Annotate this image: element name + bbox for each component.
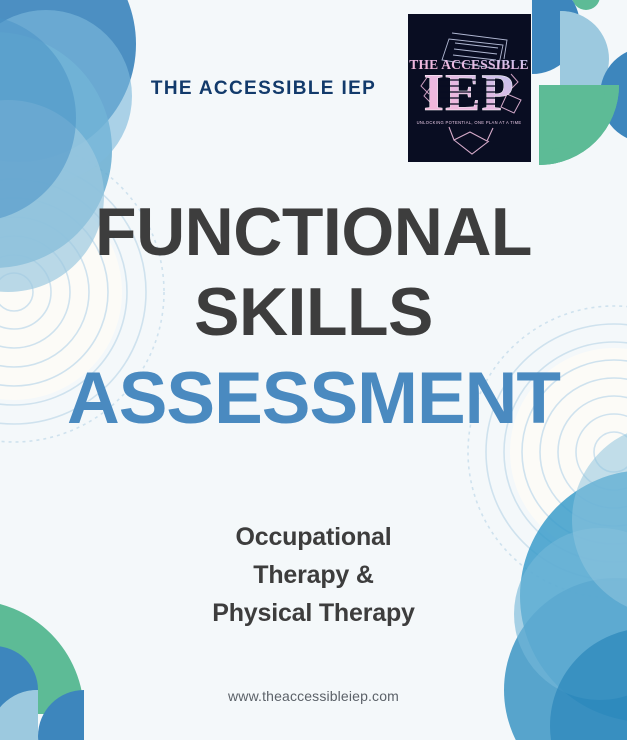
title-line-1: FUNCTIONAL bbox=[0, 196, 627, 268]
the-accessible-iep-logo-icon: THE ACCESSIBLE IEP UNLOCKING POTENTIAL, … bbox=[408, 14, 531, 162]
subtitle-line-3: Physical Therapy bbox=[0, 594, 627, 632]
cover-page: THE ACCESSIBLE IEP bbox=[0, 0, 627, 740]
cover-header: THE ACCESSIBLE IEP bbox=[0, 0, 627, 182]
logo-tagline: UNLOCKING POTENTIAL, ONE PLAN AT A TIME bbox=[417, 120, 522, 125]
logo-tile: THE ACCESSIBLE IEP UNLOCKING POTENTIAL, … bbox=[408, 14, 531, 162]
subtitle-line-1: Occupational bbox=[0, 518, 627, 556]
svg-text:IEP: IEP bbox=[423, 64, 514, 122]
title-line-2: SKILLS bbox=[0, 276, 627, 348]
subtitle: Occupational Therapy & Physical Therapy bbox=[0, 518, 627, 632]
title-line-3: ASSESSMENT bbox=[0, 360, 627, 437]
website-url: www.theaccessibleiep.com bbox=[0, 688, 627, 704]
subtitle-line-2: Therapy & bbox=[0, 556, 627, 594]
page-title: FUNCTIONAL SKILLS ASSESSMENT bbox=[0, 196, 627, 438]
